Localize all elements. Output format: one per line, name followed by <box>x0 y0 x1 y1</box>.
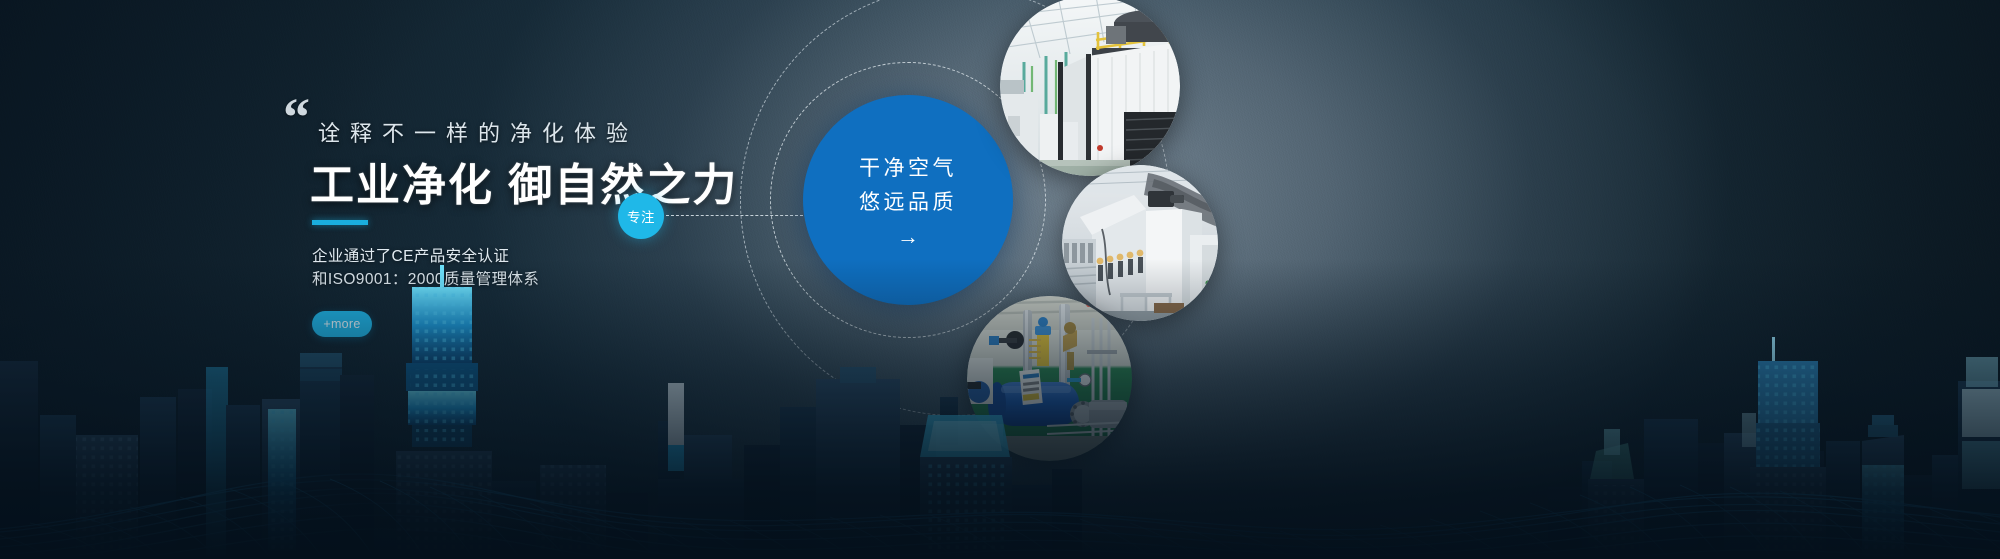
quote-mark-icon: “ <box>283 96 308 139</box>
dashed-connector-line <box>666 215 803 216</box>
focus-badge-label: 专注 <box>627 206 655 226</box>
industrial-plant-image <box>1000 0 1180 176</box>
accent-divider <box>312 220 368 225</box>
bottom-fade-overlay <box>0 259 2000 559</box>
hub-line-1: 干净空气 <box>859 152 957 186</box>
hero-subtitle: 诠释不一样的净化体验 <box>318 116 638 148</box>
photo-circle-industrial-plant[interactable] <box>1000 0 1180 176</box>
hero-banner: “ 诠释不一样的净化体验 工业净化 御自然之力 企业通过了CE产品安全认证 和I… <box>0 0 2000 559</box>
hub-line-2: 悠远品质 <box>859 186 957 220</box>
